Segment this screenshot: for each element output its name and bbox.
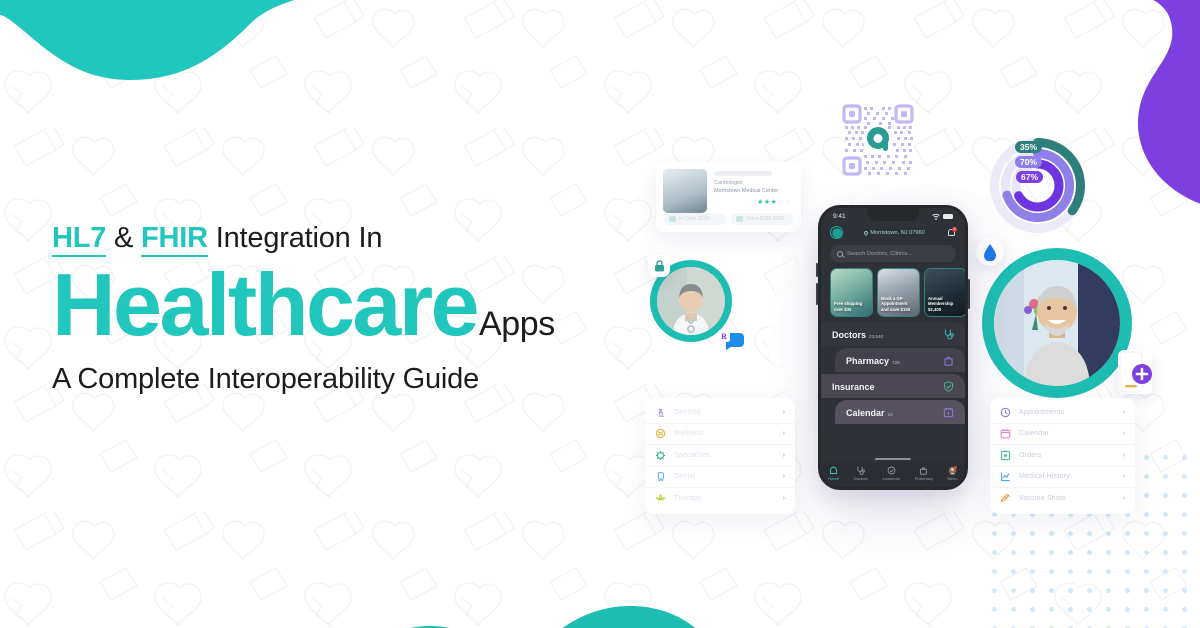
row-count: 16 [888,412,893,417]
patient-avatar-circle-right [982,248,1132,398]
rating-stars: ★★★☆☆ [757,198,791,206]
promo-card[interactable]: Annual Membership $2,400 [924,268,965,317]
ring-label-middle: 70% [1015,156,1042,168]
row-label: Doctors [832,330,866,340]
search-input[interactable]: Search Doctors, Clinics... [830,245,956,262]
home-icon [829,466,838,475]
chevron-right-icon: › [783,473,785,480]
water-drop-badge [976,238,1004,266]
illustration-group: 35% 70% 67% Cardiologist Morristown Medi… [620,0,1200,628]
shield-check-icon [887,466,896,475]
calendar-icon [943,407,954,418]
pharmacy-bag-icon [943,355,954,366]
chevron-right-icon: › [1123,495,1125,502]
tab-label: Insurance [882,476,900,481]
doctor-info-card[interactable]: Cardiologist Morristown Medical Center ★… [656,162,801,232]
stethoscope-icon [943,329,954,340]
lotus-icon [655,493,666,504]
row-count: 23,540 [869,334,883,339]
promo-label: Free shipping over $35 [834,301,869,313]
list-item[interactable]: Dental › [645,467,795,489]
tooth-icon [655,471,666,482]
promo-carousel[interactable]: Free shipping over $35 Book a GP Appoint… [821,262,965,321]
list-item-label: Medical History [1019,473,1115,480]
pharmacy-bag-icon [919,466,928,475]
video-consult-label: Video $180-$300 [746,216,784,222]
tab-insurance[interactable]: Insurance [882,466,900,482]
list-item[interactable]: Therapy › [645,488,795,510]
teal-cloud-top-left [0,0,450,200]
female-doctor-illustration [657,267,725,335]
row-label: Pharmacy [846,356,889,366]
tab-menu[interactable]: Menu [948,466,958,482]
smiling-patient-illustration [994,260,1120,386]
notification-bell[interactable]: 1 [946,228,956,238]
chevron-right-icon: › [783,495,785,502]
doctor-center: Morristown Medical Center [714,188,794,194]
in-clinic-label: In-Clinic $160 [679,216,710,222]
app-logo-a[interactable] [830,226,843,239]
hero-copy: HL7 & FHIR Integration In Healthcare App… [52,222,672,396]
shield-check-icon [943,381,954,392]
quick-actions-list-right: Appointments › Calendar › Orders › [990,398,1135,514]
video-consult-button[interactable]: Video $180-$300 [731,213,793,225]
phone-mockup: 9:41 Morristown, NJ 07960 [818,205,968,490]
location-label: Morristown, NJ 07960 [870,230,924,236]
category-rows: Doctors23,540 Pharmacy728 [821,321,965,455]
search-icon [837,251,843,257]
syringe-icon [1000,493,1011,504]
pill-icon [655,428,666,439]
doctor-specialty: Cardiologist [714,180,794,186]
medical-plus-badge [1118,350,1152,394]
list-item-label: Specialties [674,452,775,459]
list-item[interactable]: Wellness › [645,424,795,446]
list-item-label: Wellness [674,430,775,437]
patient-avatar-photo [994,260,1120,386]
row-label: Insurance [832,382,875,392]
row-insurance[interactable]: Insurance [821,374,965,398]
rx-prescription-icon: R [718,330,744,350]
list-item-label: Dentists [674,409,775,416]
promo-label: Book a GP Appointment and save $150 [881,296,916,313]
chevron-right-icon: › [1123,452,1125,459]
list-item[interactable]: Dentists › [645,402,795,424]
phone-notch [867,208,919,221]
status-time: 9:41 [833,213,846,220]
lock-icon [654,260,665,272]
headline-apps: Apps [479,305,555,344]
category-list-left: Dentists › Wellness › Specialties › [645,398,795,514]
rx-icon-badge: R [718,330,744,350]
video-icon [736,216,743,222]
list-item-label: Vaccine Shots [1019,495,1115,502]
doctor-photo [663,169,707,213]
row-calendar[interactable]: Calendar16 [835,400,965,424]
row-pharmacy[interactable]: Pharmacy728 [835,348,965,372]
ring-label-outer: 35% [1015,141,1042,153]
phone-screen: 9:41 Morristown, NJ 07960 [821,208,965,487]
headline-healthcare: Healthcare [52,261,477,349]
phone-power-button[interactable] [968,279,970,309]
list-item-label: Dental [674,473,775,480]
tab-label: Home [828,476,839,481]
list-item-label: Orders [1019,452,1115,459]
tab-label: Menu [948,476,958,481]
tab-home[interactable]: Home [828,466,839,482]
map-pin-icon [863,230,869,236]
list-item[interactable]: Vaccine Shots › [990,488,1135,510]
promo-card[interactable]: Book a GP Appointment and save $150 [877,268,920,317]
microscope-icon [655,407,666,418]
progress-rings-widget: 35% 70% 67% [985,133,1090,238]
list-item[interactable]: Calendar › [990,424,1135,446]
fhir-keyword: FHIR [141,222,208,257]
chevron-right-icon: › [1123,473,1125,480]
list-item-label: Appointments [1019,409,1115,416]
tab-label: Pharmacy [915,476,933,481]
chevron-right-icon: › [783,430,785,437]
row-doctors[interactable]: Doctors23,540 [821,322,965,346]
headline-line-2: Healthcare Apps [52,261,672,349]
chart-icon [1000,471,1011,482]
bottom-tab-bar: Home Doctors [821,462,965,487]
status-icons [932,214,953,220]
headline-line-1-rest: Integration In [208,222,382,254]
search-placeholder: Search Doctors, Clinics... [847,251,912,257]
list-item[interactable]: Appointments › [990,402,1135,424]
ampersand: & [106,222,141,254]
promo-label: Annual Membership $2,400 [928,296,963,313]
doctor-name-placeholder [714,171,772,176]
list-item-label: Calendar [1019,430,1115,437]
svg-text:R: R [721,332,727,341]
doctor-avatar-photo-left [657,267,725,335]
tab-doctors[interactable]: Doctors [854,466,868,482]
water-drop-icon [983,244,997,261]
ring-label-inner: 67% [1016,171,1043,183]
stethoscope-icon [856,466,865,475]
chevron-right-icon: › [783,452,785,459]
headline-line-1: HL7 & FHIR Integration In [52,222,672,255]
medical-cross-icon [1118,350,1152,394]
lock-icon-badge [648,255,670,277]
chevron-right-icon: › [1123,409,1125,416]
box-icon [1000,450,1011,461]
list-item-label: Therapy [674,495,775,502]
clock-icon [1000,407,1011,418]
avatar-menu-icon [948,466,957,475]
doctor-card-actions: In-Clinic $160 Video $180-$300 [664,213,793,225]
virus-icon [655,450,666,461]
list-item[interactable]: Medical History › [990,467,1135,489]
in-clinic-button[interactable]: In-Clinic $160 [664,213,726,225]
hl7-keyword: HL7 [52,222,106,257]
battery-icon [943,214,953,219]
home-indicator [875,458,911,460]
phone-volume-up-button[interactable] [816,263,818,277]
tab-pharmacy[interactable]: Pharmacy [915,466,933,482]
clinic-icon [669,216,676,222]
bell-badge: 1 [952,227,957,232]
location-chip[interactable]: Morristown, NJ 07960 [864,230,924,236]
calendar-icon [1000,428,1011,439]
qr-code[interactable] [842,104,914,176]
phone-volume-down-button[interactable] [816,283,818,305]
list-item[interactable]: Specialties › [645,445,795,467]
chevron-right-icon: › [783,409,785,416]
tab-label: Doctors [854,476,868,481]
banner-stage: HL7 & FHIR Integration In Healthcare App… [0,0,1200,628]
promo-card[interactable]: Free shipping over $35 [830,268,873,317]
row-label: Calendar [846,408,885,418]
row-count: 728 [892,360,900,365]
list-item[interactable]: Orders › [990,445,1135,467]
wifi-icon [932,214,940,220]
app-header: Morristown, NJ 07960 1 [821,222,965,242]
chevron-right-icon: › [1123,430,1125,437]
headline-subtitle: A Complete Interoperability Guide [52,363,672,396]
